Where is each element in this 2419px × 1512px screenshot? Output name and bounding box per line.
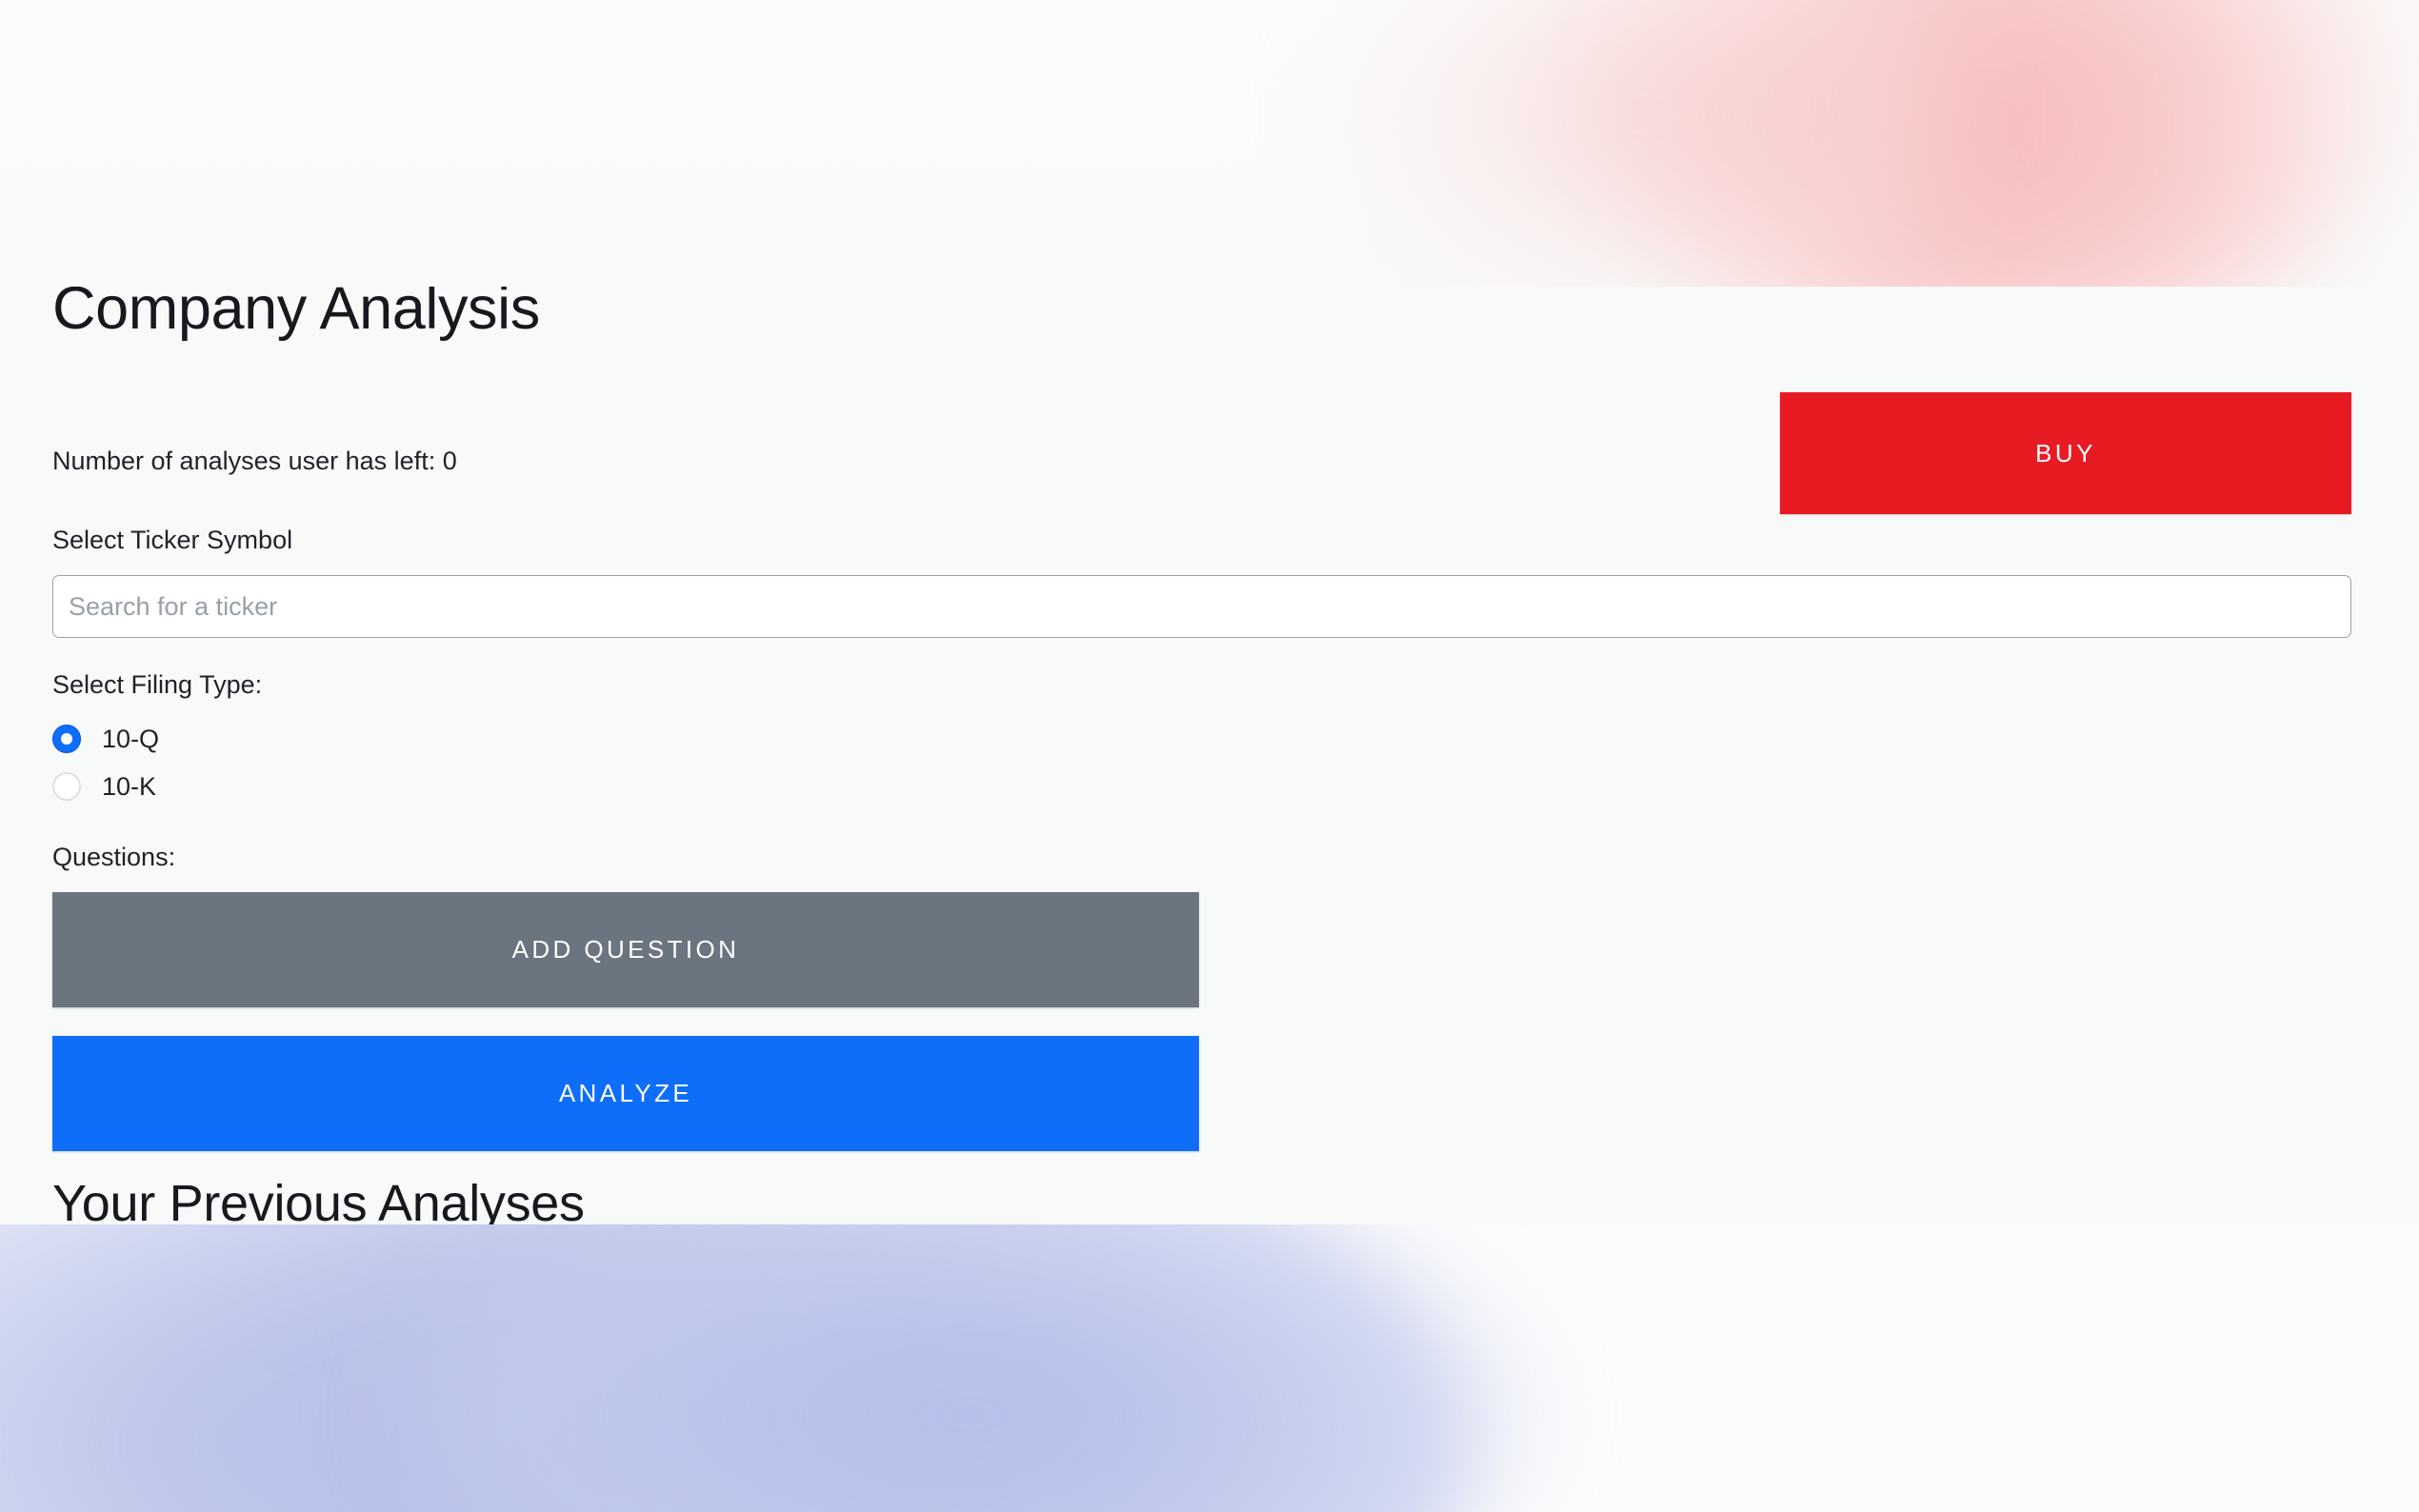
radio-selected-icon[interactable] (52, 725, 81, 753)
top-gradient-overlay (0, 0, 2419, 287)
add-question-button[interactable]: ADD QUESTION (52, 892, 1199, 1007)
analyze-button[interactable]: ANALYZE (52, 1036, 1199, 1151)
main-content: Company Analysis Number of analyses user… (52, 276, 2351, 1233)
buy-button[interactable]: BUY (1780, 392, 2351, 514)
bottom-overlay-blob-blue-secondary (400, 1224, 1543, 1512)
filing-type-label: Select Filing Type: (52, 668, 2351, 702)
top-overlay-blob-pink-secondary (1314, 0, 1981, 287)
radio-option-10k-label: 10-K (102, 774, 156, 800)
analyses-remaining-text: Number of analyses user has left: 0 (52, 392, 457, 478)
quota-and-buy-row: Number of analyses user has left: 0 BUY (52, 392, 2351, 518)
filing-type-radio-group: 10-Q 10-K (52, 715, 2351, 810)
ticker-label: Select Ticker Symbol (52, 524, 2351, 557)
bottom-gradient-overlay (0, 1224, 2419, 1512)
radio-option-10q-label: 10-Q (102, 726, 159, 752)
radio-option-10q[interactable]: 10-Q (52, 715, 2351, 763)
radio-unselected-icon[interactable] (52, 772, 81, 801)
questions-label: Questions: (52, 841, 2351, 874)
ticker-search-input[interactable] (52, 575, 2351, 638)
radio-option-10k[interactable]: 10-K (52, 763, 2351, 810)
